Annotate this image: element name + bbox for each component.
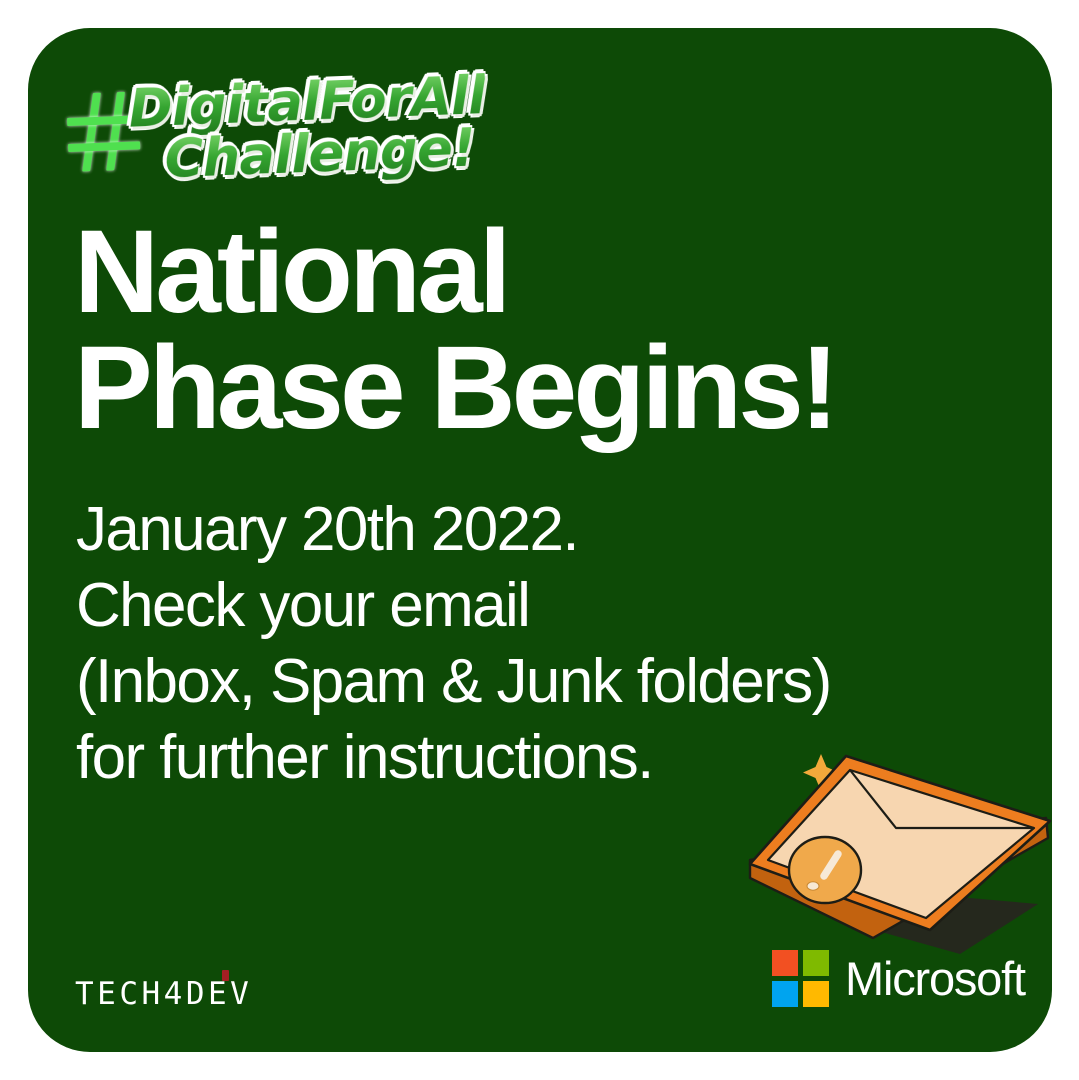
tech4dev-logo: TECH4DEV [75,958,335,1028]
microsoft-wordmark: Microsoft [845,955,1025,1002]
tech4dev-accent-dot [222,970,229,981]
poster-card: DigitalForAll Challenge! National Phase … [28,28,1052,1052]
campaign-logo-lockup: DigitalForAll Challenge! [65,62,490,218]
hashtag-stroke-horizontal-2 [68,141,140,152]
envelope-illustration [728,718,1052,968]
alert-badge-exclamation-dot [807,882,819,890]
microsoft-square-green [803,950,829,976]
microsoft-square-yellow [803,981,829,1007]
hashtag-stroke-vertical-2 [106,92,125,171]
microsoft-squares-icon [772,950,829,1007]
microsoft-logo: Microsoft [772,950,1025,1007]
tech4dev-wordmark: TECH4DEV [75,976,252,1012]
microsoft-square-blue [772,981,798,1007]
campaign-name-line-2: Challenge! [164,120,476,188]
microsoft-square-red [772,950,798,976]
page-title: National Phase Begins! [74,214,1004,446]
poster-root: DigitalForAll Challenge! National Phase … [0,0,1079,1080]
hashtag-stroke-vertical-1 [82,93,101,172]
